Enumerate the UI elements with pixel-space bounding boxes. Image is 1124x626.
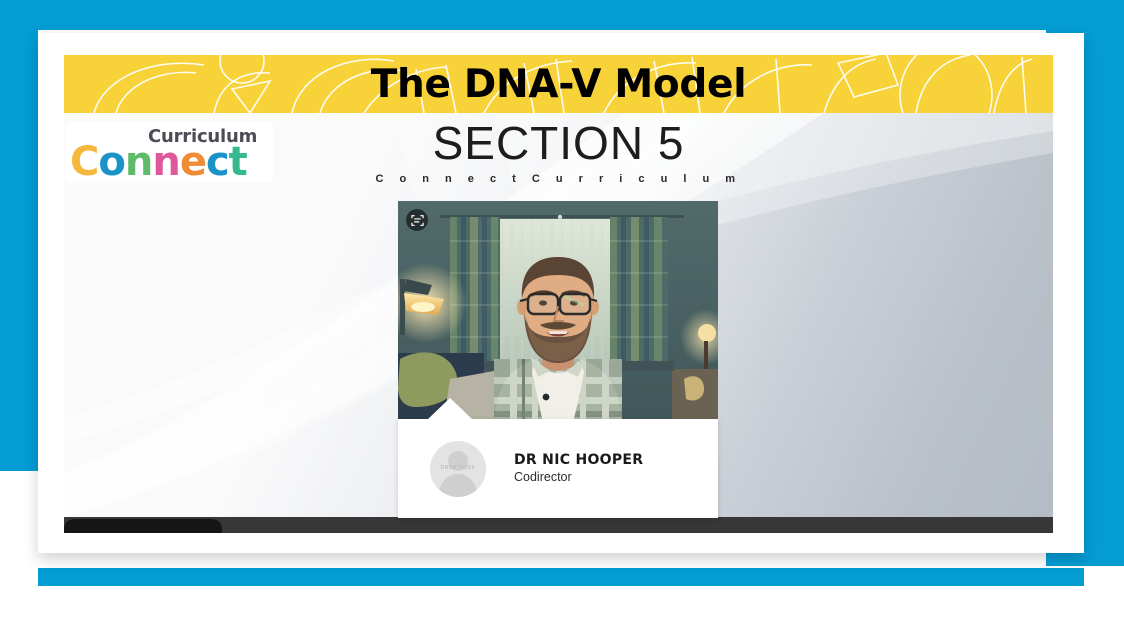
page-title: The DNA-V Model (64, 55, 1053, 113)
presenter-info-card: DROP ZONE DR NIC HOOPER Codirector (398, 419, 718, 518)
logo-letter-n2: n (152, 142, 179, 182)
presenter-name: DR NIC HOOPER (514, 452, 643, 468)
slide-header-band: The DNA-V Model (64, 55, 1053, 113)
logo-letter-c1: C (70, 142, 98, 182)
scan-frame-glyph (411, 214, 424, 227)
presenter-video-group: DROP ZONE DR NIC HOOPER Codirector (398, 201, 718, 518)
logo-letter-t: t (229, 142, 247, 182)
slide-card: The DNA-V Model SECTION 5 C o n n e c t … (38, 33, 1084, 553)
frame-bar-top (0, 0, 1124, 30)
avatar[interactable]: DROP ZONE (430, 441, 486, 497)
logo-letter-o: o (98, 142, 124, 182)
slide-content: The DNA-V Model SECTION 5 C o n n e c t … (64, 55, 1053, 533)
slide-bottom-bar (64, 517, 1053, 533)
bottom-bar-pill[interactable] (64, 519, 222, 533)
logo-letter-c2: c (206, 142, 229, 182)
frame-bar-left (0, 0, 38, 471)
video-player[interactable] (398, 201, 718, 419)
frame-bar-bottom (38, 568, 1084, 586)
scan-frame-icon[interactable] (406, 209, 428, 231)
logo-letter-e: e (180, 142, 206, 182)
curriculum-connect-logo: Curriculum Connect (66, 122, 273, 183)
avatar-drop-zone-label: DROP ZONE (430, 465, 486, 471)
card-pointer-notch (428, 398, 472, 419)
presenter-role: Codirector (514, 470, 572, 484)
logo-connect-text: Connect (70, 142, 247, 182)
video-scene-image (398, 201, 718, 419)
logo-letter-n1: n (125, 142, 152, 182)
